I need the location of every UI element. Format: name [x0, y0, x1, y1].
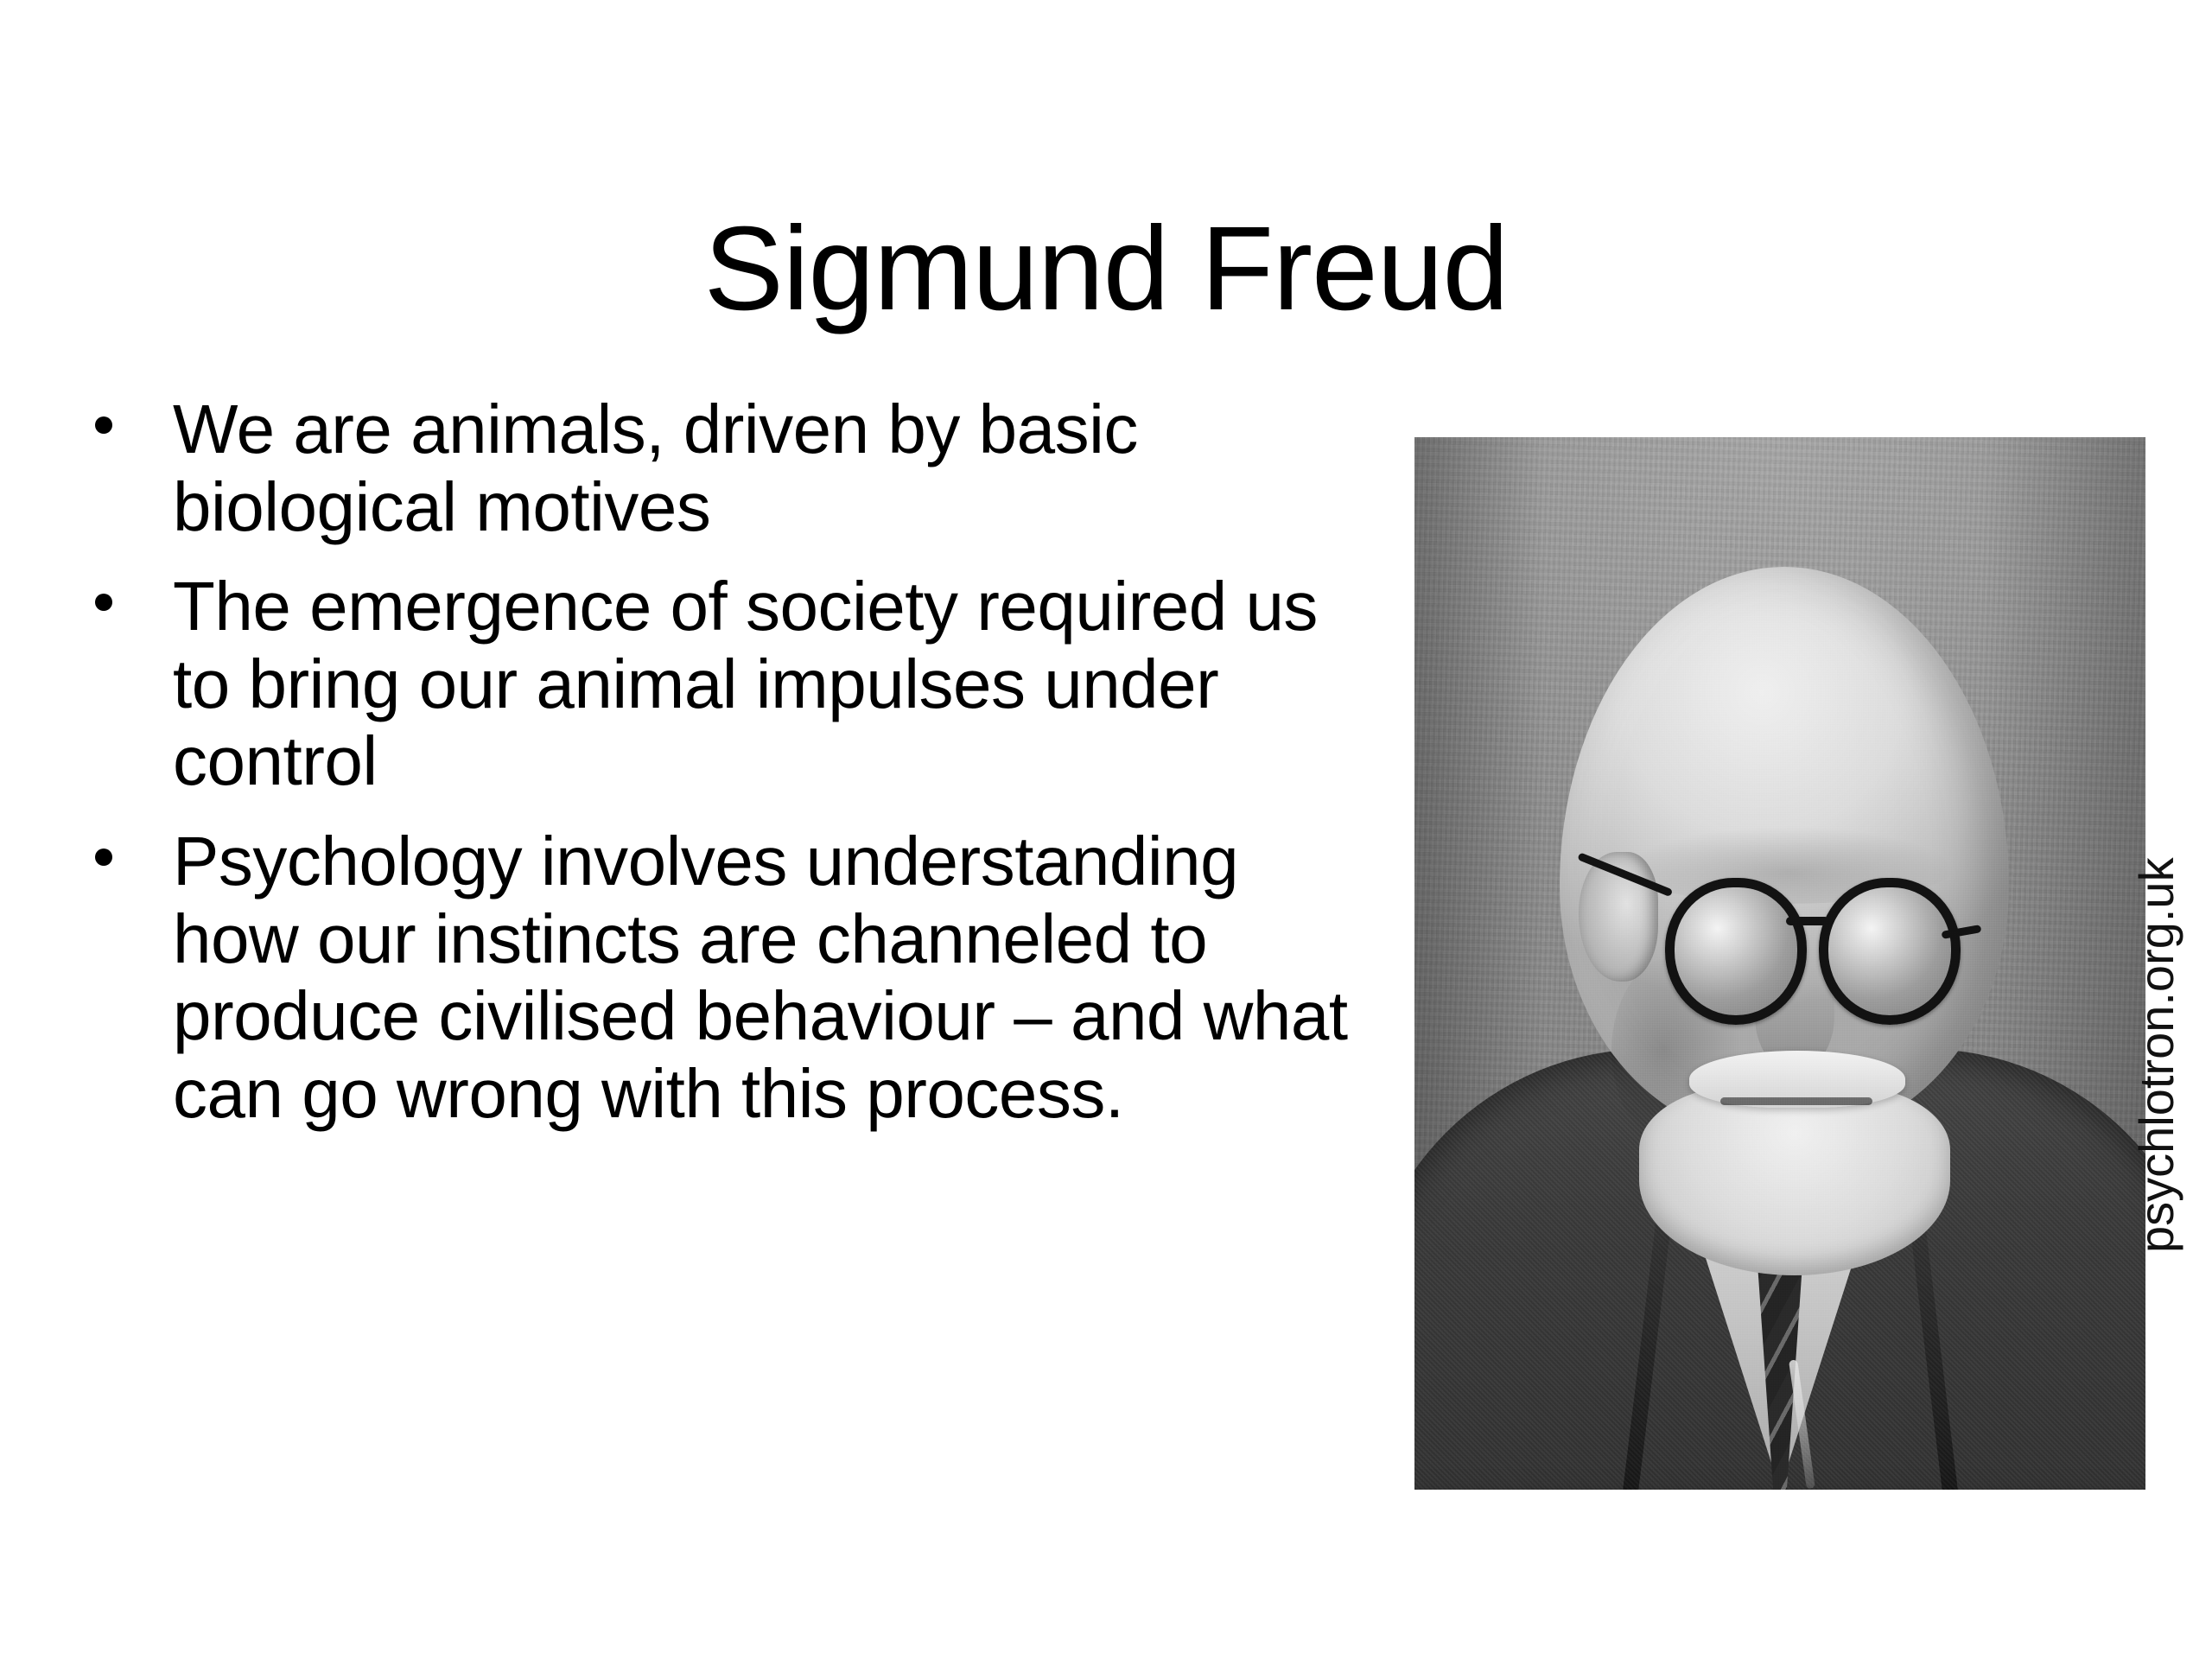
eyeglass-lens-right	[1819, 878, 1961, 1025]
beard	[1639, 1085, 1950, 1275]
eyeglass-lens-left	[1665, 878, 1807, 1025]
bullet-dot-icon	[95, 416, 112, 434]
presentation-slide: Sigmund Freud We are animals, driven by …	[0, 0, 2212, 1659]
list-item: Psychology involves understanding how ou…	[83, 823, 1379, 1132]
bullet-dot-icon	[95, 594, 112, 611]
list-item-text: Psychology involves understanding how ou…	[173, 823, 1379, 1132]
bullet-dot-icon	[95, 849, 112, 866]
list-item-text: We are animals, driven by basic biologic…	[173, 391, 1379, 545]
list-item-text: The emergence of society required us to …	[173, 568, 1379, 800]
list-item: We are animals, driven by basic biologic…	[83, 391, 1379, 545]
source-watermark: psychlotron.org.uk	[2122, 786, 2191, 1253]
page-title: Sigmund Freud	[0, 209, 2212, 328]
freud-portrait-photo	[1414, 437, 2145, 1490]
list-item: The emergence of society required us to …	[83, 568, 1379, 800]
eyeglass-bridge	[1786, 917, 1829, 925]
mouth	[1720, 1097, 1872, 1105]
bullet-list: We are animals, driven by basic biologic…	[83, 391, 1379, 1132]
